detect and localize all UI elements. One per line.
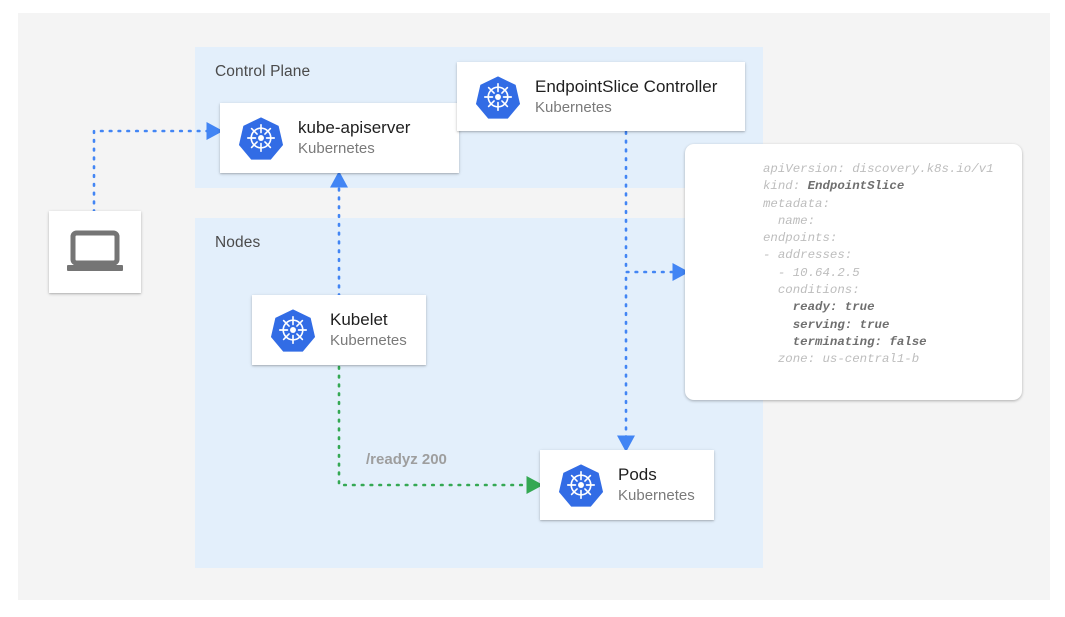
yaml-line: endpoints: xyxy=(763,230,1006,247)
yaml-line: name: xyxy=(763,213,1006,230)
node-subtitle: Kubernetes xyxy=(618,487,695,505)
yaml-key: kind: xyxy=(763,179,808,193)
yaml-value-bold: EndpointSlice xyxy=(808,179,905,193)
yaml-line: apiVersion: discovery.k8s.io/v1 xyxy=(763,161,1006,178)
diagram-stage: Control Plane Nodes /readyz 200 xyxy=(0,0,1065,617)
zone-nodes-label: Nodes xyxy=(215,234,260,252)
endpointslice-manifest-panel: apiVersion: discovery.k8s.io/v1 kind: En… xyxy=(685,144,1022,400)
node-endpointslice-controller[interactable]: EndpointSlice Controller Kubernetes xyxy=(457,62,745,131)
yaml-line: zone: us-central1-b xyxy=(763,351,1006,368)
node-endpointslice-controller-text: EndpointSlice Controller Kubernetes xyxy=(535,77,717,117)
yaml-line: serving: true xyxy=(763,317,1006,334)
node-subtitle: Kubernetes xyxy=(535,99,717,117)
node-kubelet-text: Kubelet Kubernetes xyxy=(330,310,407,350)
kubernetes-icon xyxy=(558,462,604,508)
node-pods-text: Pods Kubernetes xyxy=(618,465,695,505)
yaml-line: ready: true xyxy=(763,299,1006,316)
node-pods[interactable]: Pods Kubernetes xyxy=(540,450,714,520)
node-title: EndpointSlice Controller xyxy=(535,77,717,97)
node-title: Pods xyxy=(618,465,695,485)
yaml-line: terminating: false xyxy=(763,334,1006,351)
laptop-icon xyxy=(66,229,124,275)
kubernetes-icon xyxy=(270,307,316,353)
node-kube-apiserver-text: kube-apiserver Kubernetes xyxy=(298,118,410,158)
node-kube-apiserver[interactable]: kube-apiserver Kubernetes xyxy=(220,103,459,173)
node-subtitle: Kubernetes xyxy=(330,332,407,350)
zone-control-plane-label: Control Plane xyxy=(215,63,310,81)
yaml-line: metadata: xyxy=(763,196,1006,213)
node-kubelet[interactable]: Kubelet Kubernetes xyxy=(252,295,426,365)
yaml-line: conditions: xyxy=(763,282,1006,299)
node-title: Kubelet xyxy=(330,310,407,330)
kubernetes-icon xyxy=(238,115,284,161)
kubernetes-icon xyxy=(475,74,521,120)
node-subtitle: Kubernetes xyxy=(298,140,410,158)
edge-label-readyz: /readyz 200 xyxy=(366,451,447,468)
yaml-line: - addresses: xyxy=(763,247,1006,264)
node-client[interactable] xyxy=(49,211,141,293)
yaml-line: - 10.64.2.5 xyxy=(763,265,1006,282)
yaml-line: kind: EndpointSlice xyxy=(763,178,1006,195)
node-title: kube-apiserver xyxy=(298,118,410,138)
